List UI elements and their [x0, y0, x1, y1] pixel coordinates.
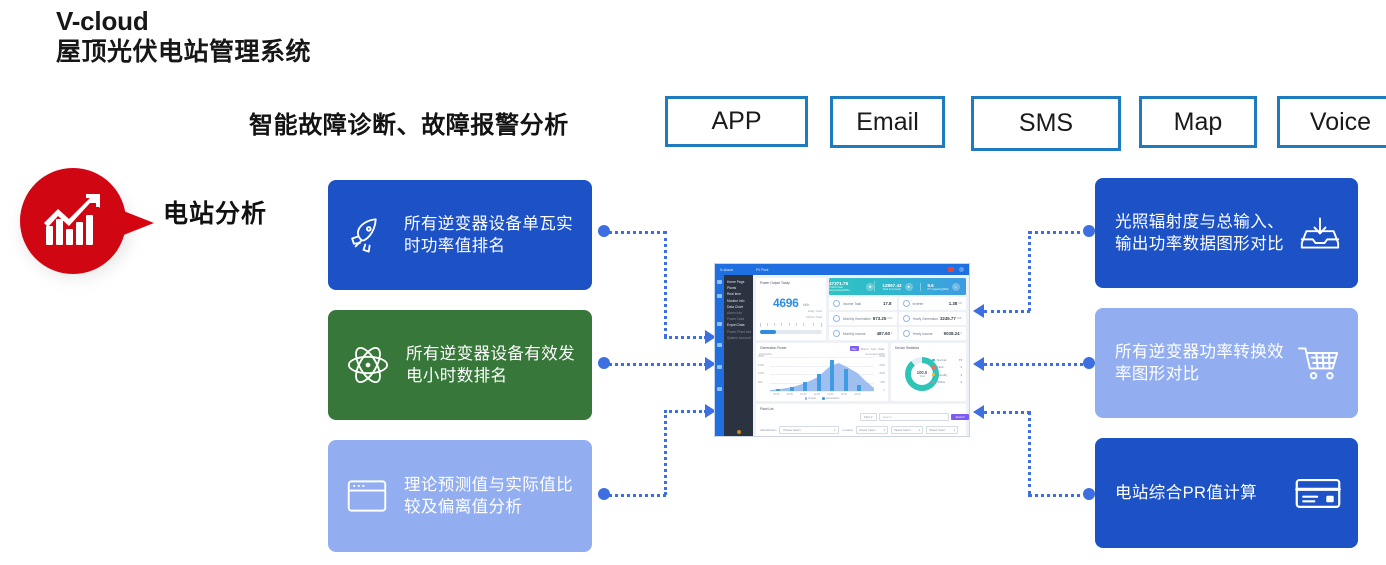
- dashboard-kpi-column: 47371.75 Total Power Generation(kWh) ★ 1…: [829, 278, 966, 340]
- stat-grid: Income Total 17.8 Monthly Generation 873…: [829, 297, 966, 340]
- user-avatar[interactable]: [959, 267, 964, 272]
- dashboard-content: Power Output Today 4696 kWh Daily Yield …: [753, 275, 969, 436]
- connector-right-3-h2: [984, 411, 1030, 414]
- connector-left-3-dot: [598, 488, 610, 500]
- range-year[interactable]: Year: [870, 347, 876, 351]
- filter-select-classification[interactable]: Please Select▾: [779, 426, 839, 434]
- power-output-unit: kWh: [803, 303, 809, 307]
- plant-analysis-badge: [6, 163, 156, 287]
- dashboard-nav: Home Page Plants Real time Monitor Info …: [727, 279, 751, 341]
- browser-window-icon: [346, 477, 388, 515]
- stat-yearly-income: Yearly Income 9038.24 ¥: [899, 327, 967, 340]
- search-scope-select[interactable]: Plant ▾: [860, 413, 877, 421]
- timeline-slider[interactable]: [760, 330, 822, 334]
- connector-left-1-h2: [664, 336, 707, 339]
- coin-icon: ●: [905, 283, 913, 291]
- stat-value: 17.8: [883, 301, 892, 306]
- title-en: V-cloud: [56, 6, 676, 37]
- connector-left-2-h: [604, 363, 707, 366]
- dashboard-sidebar: Home Page Plants Real time Monitor Info …: [724, 275, 753, 437]
- connector-right-2-h: [984, 363, 1089, 366]
- stat-column-left: Income Total 17.8 Monthly Generation 873…: [829, 297, 897, 340]
- card-plant-pr-calculation[interactable]: 电站综合PR值计算: [1095, 438, 1358, 548]
- sidebar-user-badge: [737, 430, 741, 434]
- stat-monthly-generation: Monthly Generation 873.25 kWh: [829, 312, 897, 325]
- dashboard-screenshot[interactable]: V-cloud PV Plant Home Page Plants Real t…: [714, 263, 970, 437]
- plant-search-row: Plant ▾ Search... Search: [860, 413, 970, 421]
- card-text: 理论预测值与实际值比较及偏离值分析: [404, 474, 578, 519]
- channel-button-map[interactable]: Map: [1139, 96, 1257, 148]
- panel-title: Device Statistics: [895, 346, 962, 350]
- panel-title: Power Output Today: [760, 281, 822, 285]
- connector-left-1-v: [664, 231, 667, 337]
- filter-select-1[interactable]: Please Select▾: [856, 426, 888, 434]
- connector-left-3-h1: [604, 494, 666, 497]
- stat-label: Inverter: [913, 302, 949, 306]
- channel-button-group: APP Email SMS Map Voice: [665, 96, 1386, 151]
- stat-value: 487.60: [877, 331, 890, 336]
- stat-inverter: Inverter 1.38 kW: [899, 297, 967, 310]
- card-inverter-watt-ranking[interactable]: 所有逆变器设备单瓦实时功率值排名: [328, 180, 592, 290]
- legend-fault: Fault1: [932, 365, 962, 369]
- dashboard-topbar-actions: [948, 267, 964, 272]
- filter-label-location: Location: [842, 428, 853, 432]
- kpi-total-generation: 47371.75 Total Power Generation(kWh) ★: [829, 281, 875, 292]
- power-output-today-panel: Power Output Today 4696 kWh Daily Yield …: [756, 278, 826, 340]
- connector-left-3-v: [664, 410, 667, 495]
- chart-range-toggle[interactable]: Day Month Year Total: [850, 346, 884, 351]
- device-statistics-panel: Device Statistics 100.0 Total Normal73 F…: [891, 343, 966, 401]
- kpi-total-income: 12867.43 Total Income(¥) ●: [875, 283, 921, 291]
- card-text: 电站综合PR值计算: [1115, 482, 1284, 504]
- power-output-value: 4696: [773, 296, 799, 310]
- stat-icon: [833, 330, 840, 337]
- dashboard-breadcrumb: PV Plant: [756, 268, 768, 272]
- connector-right-3-arrow: [973, 405, 984, 419]
- sidebar-item-system-account[interactable]: System Account: [727, 335, 751, 341]
- dashboard-hero-row: Power Output Today 4696 kWh Daily Yield …: [756, 278, 966, 340]
- timeline-scale: [760, 323, 822, 327]
- stat-unit: kWh: [957, 317, 962, 320]
- connector-right-1-h1: [1028, 231, 1088, 234]
- legend-standby: Standby1: [932, 373, 962, 377]
- sun-icon: ☼: [952, 283, 960, 291]
- filter-select-2[interactable]: Please Select▾: [891, 426, 923, 434]
- credit-card-icon: [1294, 475, 1342, 511]
- connector-right-1-h2: [984, 310, 1030, 313]
- dashboard-icon-rail: [715, 275, 724, 437]
- dashboard-mid-row: Generation Power Day Month Year Total Po…: [756, 343, 966, 401]
- stat-unit: ¥: [961, 332, 962, 335]
- rail-icon-2[interactable]: [717, 294, 722, 298]
- shopping-cart-icon: [1296, 343, 1342, 383]
- kpi-label: Total Income(¥): [882, 288, 901, 291]
- badge-circle: [20, 168, 126, 274]
- chevron-down-icon: ▾: [834, 428, 835, 432]
- legend-item-power: Power: [805, 397, 817, 400]
- rail-icon-1[interactable]: [717, 280, 722, 284]
- chart-bar: [844, 369, 848, 391]
- connector-right-3-h1: [1028, 494, 1088, 497]
- channel-button-email[interactable]: Email: [830, 96, 945, 148]
- connector-right-3-v: [1028, 411, 1031, 495]
- connector-right-1-v: [1028, 231, 1031, 311]
- card-text: 所有逆变器功率转换效率图形对比: [1115, 341, 1286, 386]
- stat-unit: ¥: [891, 332, 892, 335]
- range-day[interactable]: Day: [850, 346, 859, 351]
- chevron-down-icon: ▾: [884, 428, 885, 432]
- chevron-down-icon: ▾: [919, 428, 920, 432]
- stat-label: Monthly Income: [843, 332, 877, 336]
- stat-value: 9038.24: [944, 331, 960, 336]
- stat-label: Yearly Generation: [913, 317, 940, 321]
- card-inverter-efficiency-comparison[interactable]: 所有逆变器功率转换效率图形对比: [1095, 308, 1358, 418]
- generation-power-chart-panel: Generation Power Day Month Year Total Po…: [756, 343, 888, 401]
- page-title: V-cloud 屋顶光伏电站管理系统: [56, 6, 676, 67]
- dashboard-brand: V-cloud: [720, 268, 733, 272]
- rail-icon-3[interactable]: [717, 322, 722, 326]
- sidebar-item-power-plant-info[interactable]: Power Plant Info: [727, 329, 751, 335]
- stat-income-total: Income Total 17.8: [829, 297, 897, 310]
- stat-label: Yearly Income: [913, 332, 944, 336]
- kpi-pv-capacity: 9.6 PV Capacity(MW) ☼: [921, 283, 966, 291]
- connector-left-1-h1: [604, 231, 666, 234]
- stat-unit: kW: [958, 302, 962, 305]
- kpi-label: Total Power Generation(kWh): [829, 286, 863, 292]
- range-month[interactable]: Month: [861, 347, 869, 351]
- stat-icon: [903, 330, 910, 337]
- connector-left-2-dot: [598, 357, 610, 369]
- month-yield-label: Month Yield: [806, 315, 822, 319]
- stat-monthly-income: Monthly Income 487.60 ¥: [829, 327, 897, 340]
- legend-normal: Normal73: [932, 358, 962, 362]
- chart-bar: [817, 374, 821, 391]
- subtitle: 智能故障诊断、故障报警分析: [249, 105, 569, 140]
- device-status-legend: Normal73 Fault1 Standby1 Offline1: [932, 358, 962, 388]
- atom-icon: [346, 344, 390, 386]
- connector-left-1-dot: [598, 225, 610, 237]
- legend-item-generation: Generation: [822, 397, 839, 400]
- rail-icon-6[interactable]: [717, 387, 722, 391]
- connector-right-3-dot: [1083, 488, 1095, 500]
- connector-right-2-arrow: [973, 357, 984, 371]
- timeline-slider-fill: [760, 330, 776, 334]
- card-text: 所有逆变器设备单瓦实时功率值排名: [404, 213, 578, 258]
- stat-unit: kWh: [887, 317, 892, 320]
- rail-icon-4[interactable]: [717, 343, 722, 347]
- stat-icon: [903, 315, 910, 322]
- rail-icon-5[interactable]: [717, 365, 722, 369]
- stat-label: Monthly Generation: [843, 317, 873, 321]
- slide-root: V-cloud 屋顶光伏电站管理系统 智能故障诊断、故障报警分析 APP Ema…: [0, 0, 1386, 565]
- channel-button-app[interactable]: APP: [665, 96, 808, 147]
- kpi-band: 47371.75 Total Power Generation(kWh) ★ 1…: [829, 278, 966, 295]
- kpi-label: PV Capacity(MW): [927, 288, 948, 291]
- bar-chart-growth-icon: [42, 193, 104, 249]
- connector-right-2-dot: [1083, 357, 1095, 369]
- title-cn: 屋顶光伏电站管理系统: [56, 37, 676, 68]
- stat-icon: [833, 315, 840, 322]
- chart-bar: [803, 382, 807, 391]
- dashboard-topbar: [715, 264, 969, 275]
- connector-right-1-arrow: [973, 304, 984, 318]
- rocket-icon: [346, 214, 388, 256]
- stat-value: 1.38: [949, 301, 958, 306]
- chart-plot-area: 2000 1500 1000 500 2000 1500 1000 500 0: [770, 357, 874, 391]
- plant-filter-row: Classification Please Select▾ Location P…: [760, 426, 962, 434]
- stat-icon: [833, 300, 840, 307]
- card-predicted-vs-actual[interactable]: 理论预测值与实际值比较及偏离值分析: [328, 440, 592, 552]
- card-irradiance-power-comparison[interactable]: 光照辐射度与总输入、输出功率数据图形对比: [1095, 178, 1358, 288]
- range-total[interactable]: Total: [878, 347, 884, 351]
- card-text: 所有逆变器设备有效发电小时数排名: [406, 343, 578, 388]
- chevron-down-icon: ▾: [954, 428, 955, 432]
- chart-bar: [830, 360, 834, 391]
- stat-icon: [903, 300, 910, 307]
- chart-bar: [776, 389, 780, 391]
- stat-value: 3245.77: [940, 316, 956, 321]
- channel-button-sms[interactable]: SMS: [971, 96, 1121, 151]
- donut-caption: Total: [919, 375, 924, 378]
- connector-right-1-dot: [1083, 225, 1095, 237]
- kpi-value: 12867.43: [882, 283, 901, 288]
- stat-yearly-generation: Yearly Generation 3245.77 kWh: [899, 312, 967, 325]
- panel-title: Plant List: [760, 407, 962, 411]
- card-inverter-hours-ranking[interactable]: 所有逆变器设备有效发电小时数排名: [328, 310, 592, 420]
- chart-bar: [857, 385, 861, 391]
- filter-label-classification: Classification: [760, 428, 776, 432]
- plant-list-panel: Plant List Plant ▾ Search... Search Clas…: [756, 404, 966, 437]
- chart-legend: Power Generation: [756, 397, 888, 400]
- chart-bar: [790, 387, 794, 391]
- connector-left-3-h2: [664, 410, 707, 413]
- filter-select-3[interactable]: Please Select▾: [926, 426, 958, 434]
- inbox-download-icon: [1298, 213, 1342, 253]
- legend-offline: Offline1: [932, 380, 962, 384]
- stat-column-right: Inverter 1.38 kW Yearly Generation 3245.…: [899, 297, 967, 340]
- daily-yield-label: Daily Yield: [808, 309, 822, 313]
- search-input[interactable]: Search...: [879, 413, 949, 421]
- badge-label: 电站分析: [163, 194, 267, 230]
- channel-button-voice[interactable]: Voice: [1277, 96, 1386, 148]
- stat-value: 873.25: [873, 316, 886, 321]
- search-button[interactable]: Search: [951, 414, 970, 420]
- leaf-icon: ★: [866, 283, 874, 291]
- card-text: 光照辐射度与总输入、输出功率数据图形对比: [1115, 211, 1288, 256]
- alert-chip-icon[interactable]: [948, 267, 954, 272]
- stat-label: Income Total: [843, 302, 883, 306]
